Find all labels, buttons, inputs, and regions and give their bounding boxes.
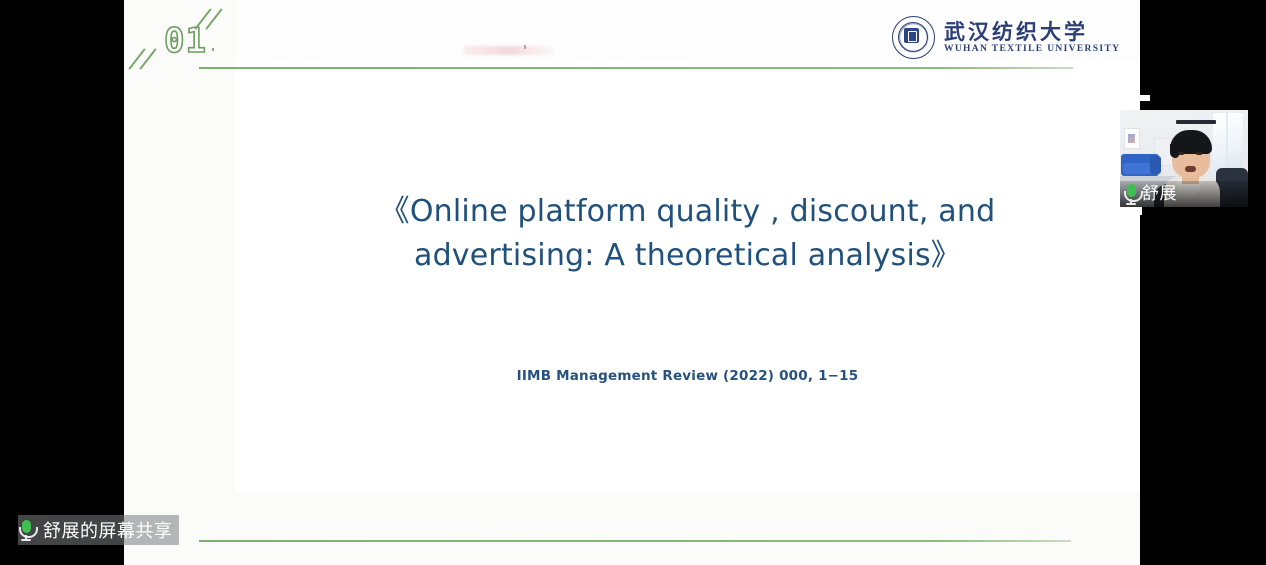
thumbnail-bottom-chip: [1120, 207, 1142, 215]
screen-share-indicator: 舒展的屏幕共享: [18, 515, 179, 545]
slide-title: 《Online platform quality , discount, and…: [235, 190, 1140, 277]
slide-citation: IIMB Management Review (2022) 000, 1−15: [235, 368, 1140, 384]
slide-title-line-1: 《Online platform quality , discount, and: [235, 190, 1140, 234]
thumbnail-top-chip: [1120, 95, 1150, 101]
wall-poster-decor: [1124, 128, 1140, 149]
microphone-icon: [1123, 184, 1139, 204]
shared-slide: 01 武汉纺织大学 WUHAN TEXTILE UNIVERSITY 《Onl: [124, 0, 1140, 565]
header-divider-line: [199, 67, 1073, 69]
slide-artifact-smudge: [464, 46, 554, 55]
zoom-meeting-screen: 01 武汉纺织大学 WUHAN TEXTILE UNIVERSITY 《Onl: [0, 0, 1266, 565]
decor-dot: [212, 48, 214, 51]
university-logo-text: 武汉纺织大学 WUHAN TEXTILE UNIVERSITY: [944, 21, 1120, 55]
participant-name-bar: 舒展: [1120, 181, 1248, 207]
microphone-icon: [18, 520, 34, 540]
university-name-en: WUHAN TEXTILE UNIVERSITY: [944, 45, 1120, 55]
screen-share-label-text: 舒展的屏幕共享: [43, 517, 173, 543]
slide-title-line-2: advertising: A theoretical analysis》: [235, 234, 1140, 278]
university-logo: 武汉纺织大学 WUHAN TEXTILE UNIVERSITY: [892, 16, 1120, 59]
window-decor: [1212, 112, 1244, 174]
university-seal-icon: [892, 16, 935, 59]
footer-divider-line: [199, 540, 1071, 542]
slide-artifact-dot: [524, 45, 526, 49]
participant-name: 舒展: [1142, 186, 1177, 203]
chapter-number: 01: [164, 24, 207, 58]
participant-video-thumbnail[interactable]: 舒展: [1120, 110, 1248, 207]
university-name-cn: 武汉纺织大学: [944, 21, 1120, 43]
